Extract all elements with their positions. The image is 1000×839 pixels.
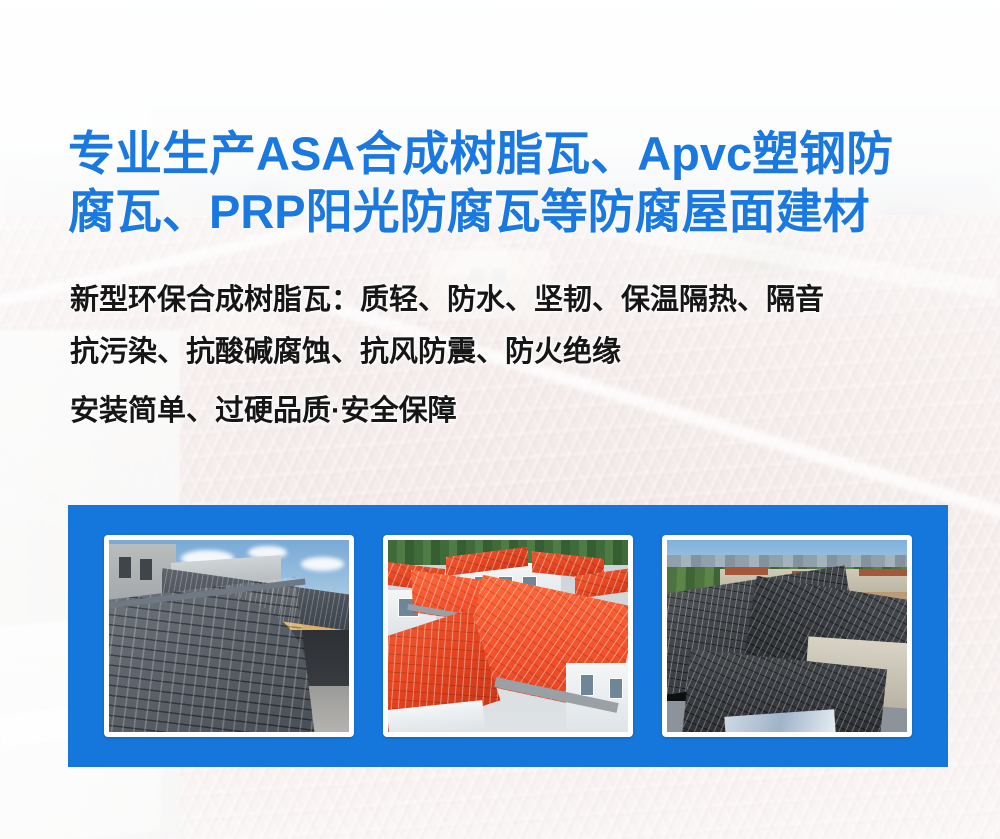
red-tile-roof-image: [388, 540, 628, 732]
feature-line-3: 安装简单、过硬品质·安全保障: [70, 385, 960, 437]
feature-line-1: 新型环保合成树脂瓦：质轻、防水、坚韧、保温隔热、隔音: [70, 274, 960, 326]
page-title: 专业生产ASA合成树脂瓦、Apvc塑钢防 腐瓦、PRP阳光防腐瓦等防腐屋面建材: [68, 125, 948, 241]
feature-list: 新型环保合成树脂瓦：质轻、防水、坚韧、保温隔热、隔音 抗污染、抗酸碱腐蚀、抗风防…: [70, 274, 960, 437]
gallery-photo-3[interactable]: [662, 535, 912, 737]
black-tile-roof-image: [667, 540, 907, 732]
gallery-photo-1[interactable]: [104, 535, 354, 737]
gallery-photo-2[interactable]: [383, 535, 633, 737]
feature-line-2: 抗污染、抗酸碱腐蚀、抗风防震、防火绝缘: [70, 326, 960, 378]
product-banner: 专业生产ASA合成树脂瓦、Apvc塑钢防 腐瓦、PRP阳光防腐瓦等防腐屋面建材 …: [0, 0, 1000, 839]
grey-tile-roof-image: [109, 540, 349, 732]
product-photo-gallery: [68, 505, 948, 767]
